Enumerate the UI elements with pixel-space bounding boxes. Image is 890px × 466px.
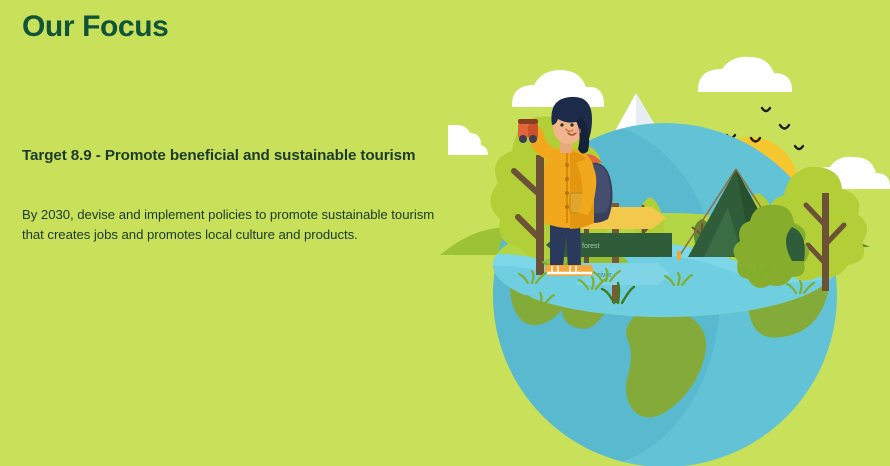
slide-canvas: Our Focus Target 8.9 - Promote beneficia… <box>0 0 890 466</box>
target-description: By 2030, devise and implement policies t… <box>22 205 442 244</box>
page-title: Our Focus <box>22 8 168 46</box>
target-heading: Target 8.9 - Promote beneficial and sust… <box>22 145 437 167</box>
signpost-forest-label: forest <box>582 243 600 250</box>
sustainable-tourism-illustration: street forest river <box>440 55 890 466</box>
illustration-svg: street forest river <box>440 55 890 466</box>
shoe-icon <box>545 265 594 276</box>
